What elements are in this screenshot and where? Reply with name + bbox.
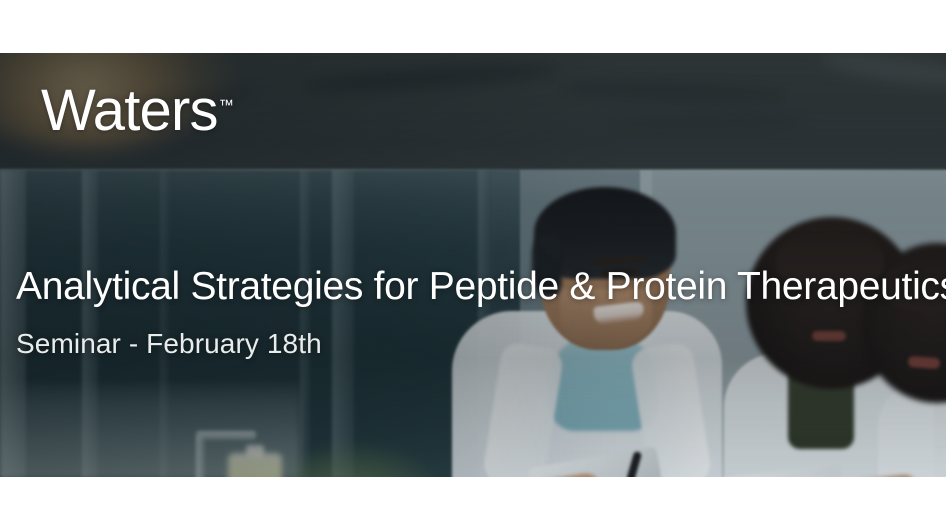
banner-text-overlay: Waters™ Analytical Strategies for Peptid… [0,0,946,530]
banner-subhead: Seminar - February 18th [16,330,322,358]
letterbox-band-top [0,0,946,53]
seminar-banner-page: Waters™ Analytical Strategies for Peptid… [0,0,946,530]
waters-logo[interactable]: Waters™ [41,82,234,140]
waters-wordmark: Waters [41,78,218,143]
letterbox-band-bottom [0,477,946,530]
trademark-icon: ™ [219,97,234,114]
banner-headline: Analytical Strategies for Peptide & Prot… [16,267,946,306]
